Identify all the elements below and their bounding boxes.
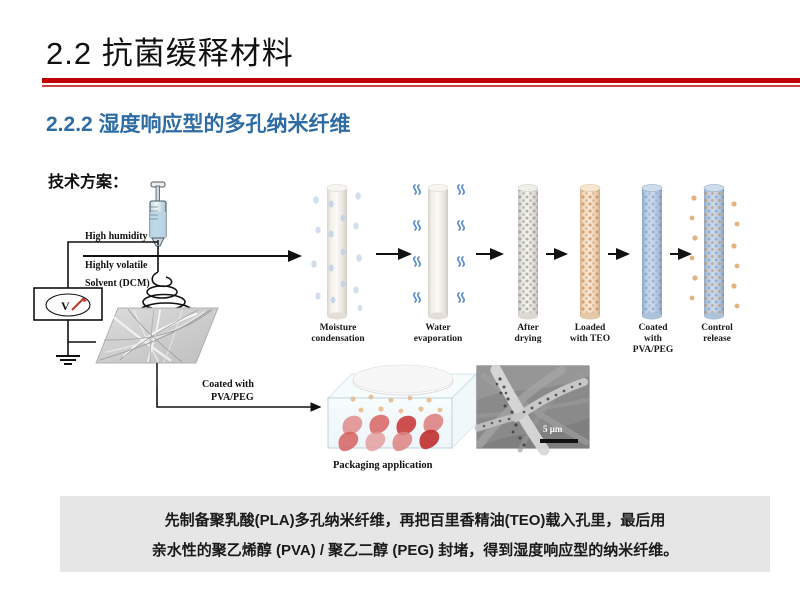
cylinder-coated-pva-peg xyxy=(642,184,662,319)
process-diagram: V xyxy=(0,160,800,490)
step-label-1-line2: evaporation xyxy=(398,334,478,345)
packaging-illustration xyxy=(328,365,476,451)
voltmeter-symbol: V xyxy=(61,299,70,313)
step-label-0-line1: Moisture xyxy=(295,323,381,334)
slide-root: 2.2 抗菌缓释材料 2.2.2 湿度响应型的多孔纳米纤维 技术方案： xyxy=(0,0,800,600)
step-label-5: Control release xyxy=(682,323,752,345)
step-label-3-line1: Loaded xyxy=(552,323,628,334)
coated-arrow-text-line1: Coated with xyxy=(202,378,254,391)
sem-scalebar-label: 5 μm xyxy=(543,424,562,434)
step-label-5-line2: release xyxy=(682,334,752,345)
process-text-solvent-dcm: Solvent (DCM) xyxy=(85,277,150,290)
cylinder-water-evaporation xyxy=(414,184,464,319)
step-label-1: Water evaporation xyxy=(398,323,478,345)
step-label-3: Loaded with TEO xyxy=(552,323,628,345)
step-label-4-line2: with xyxy=(618,334,688,345)
summary-line-1: 先制备聚乳酸(PLA)多孔纳米纤维，再把百里香精油(TEO)载入孔里，最后用 xyxy=(60,506,770,536)
step-label-4-line3: PVA/PEG xyxy=(618,345,688,356)
process-text-highly-volatile: Highly volatile xyxy=(85,259,148,272)
step-label-0-line2: condensation xyxy=(295,334,381,345)
cylinder-moisture-condensation xyxy=(311,184,362,319)
page-title: 2.2 抗菌缓释材料 xyxy=(46,28,294,73)
summary-line-2: 亲水性的聚乙烯醇 (PVA) / 聚乙二醇 (PEG) 封堵，得到湿度响应型的纳… xyxy=(60,536,770,566)
title-rule-thin xyxy=(42,85,800,87)
title-rule-thick xyxy=(42,78,800,83)
step-label-4-line1: Coated xyxy=(618,323,688,334)
cylinder-after-drying xyxy=(518,184,538,319)
cylinder-control-release xyxy=(690,184,740,319)
step-label-5-line1: Control xyxy=(682,323,752,334)
step-label-3-line2: with TEO xyxy=(552,334,628,345)
coated-arrow-text-line2: PVA/PEG xyxy=(211,391,254,404)
summary-box: 先制备聚乳酸(PLA)多孔纳米纤维，再把百里香精油(TEO)载入孔里，最后用 亲… xyxy=(60,496,770,572)
step-label-0: Moisture condensation xyxy=(295,323,381,345)
packaging-caption: Packaging application xyxy=(333,460,432,471)
step-label-1-line1: Water xyxy=(398,323,478,334)
process-text-high-humidity: High humidity xyxy=(85,230,148,243)
step-label-4: Coated with PVA/PEG xyxy=(618,323,688,356)
section-subtitle: 2.2.2 湿度响应型的多孔纳米纤维 xyxy=(46,108,351,138)
sem-micrograph xyxy=(477,366,589,450)
cylinder-loaded-teo xyxy=(580,184,600,319)
